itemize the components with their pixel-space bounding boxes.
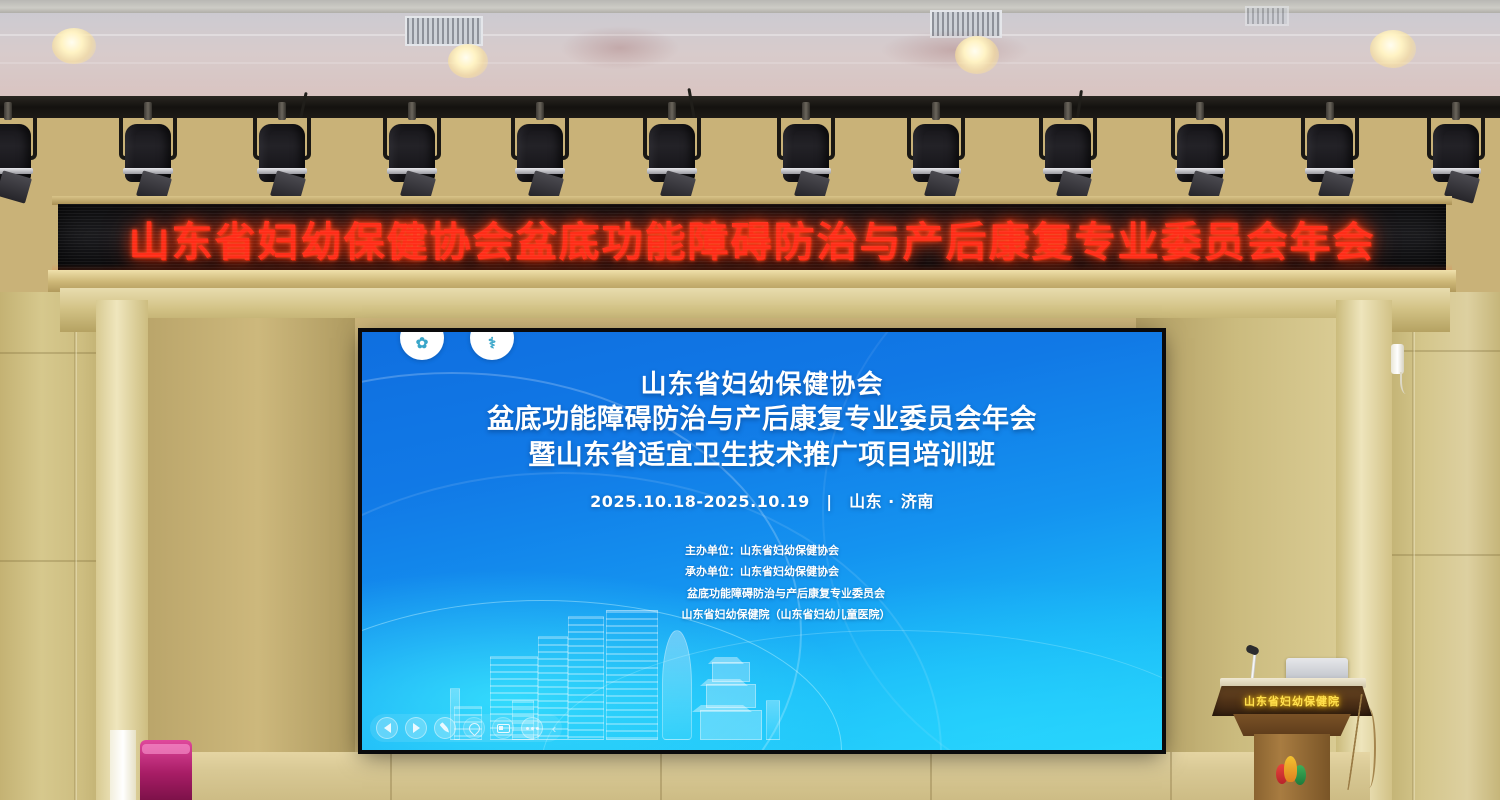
screen-button[interactable] (492, 717, 514, 739)
podium-cable (1362, 708, 1376, 788)
podium-sign-text: 山东省妇幼保健院 (1244, 693, 1340, 709)
stage-recess-left (140, 318, 355, 800)
screen-icon (497, 724, 510, 733)
organizer-value: 山东省妇幼保健协会 (740, 544, 839, 557)
organizer-value: 山东省妇幼保健协会 (740, 565, 839, 578)
slide-title-line-3: 暨山东省适宜卫生技术推广项目培训班 (362, 438, 1162, 474)
lighting-truss (0, 96, 1500, 118)
slide-date-location: 2025.10.18-2025.10.19 | 山东 · 济南 (362, 488, 1162, 512)
organizer-row: 盆底功能障碍防治与产后康复专业委员会 (362, 583, 1162, 604)
ceiling-seam (0, 34, 1500, 36)
organizer-row: 承办单位：山东省妇幼保健协会 (362, 561, 1162, 582)
next-slide-button[interactable] (405, 717, 427, 739)
conference-hall-photo: 山东省妇幼保健协会盆底功能障碍防治与产后康复专业委员会年会 ✿ ⚕ (0, 0, 1500, 800)
triangle-left-icon (384, 723, 391, 733)
wall-light-fixture (1391, 344, 1404, 374)
fixture-wire (1400, 372, 1410, 394)
stage-base (140, 752, 1370, 800)
banner-panel: 山东省妇幼保健协会盆底功能障碍防治与产后康复专业委员会年会 (58, 204, 1446, 272)
podium-mid (1228, 714, 1356, 736)
pointer-icon (466, 720, 482, 736)
slide-title-line-2: 盆底功能障碍防治与产后康复专业委员会年会 (362, 402, 1162, 438)
organizer-label: 承办单位： (685, 565, 740, 578)
previous-slide-button[interactable] (376, 717, 398, 739)
air-vent-icon (1245, 6, 1289, 26)
floral-decoration (140, 740, 192, 800)
ceiling-downlight (52, 28, 96, 64)
podium-sign: 山东省妇幼保健院 (1212, 686, 1372, 716)
more-options-button[interactable] (521, 717, 543, 739)
organizer-label: 主办单位： (685, 544, 740, 557)
pen-icon (437, 720, 454, 737)
organizer-value: 盆底功能障碍防治与产后康复专业委员会 (687, 587, 885, 600)
podium: 山东省妇幼保健院 (1212, 648, 1372, 800)
presentation-toolbar[interactable]: ‹ (370, 714, 562, 742)
ceiling-downlight (448, 44, 488, 78)
ceiling-shadow (560, 26, 680, 70)
presentation-screen[interactable]: ✿ ⚕ 山东省妇幼保健协会 盆底功能障碍防治与产后康复专业委员会年会 暨山东省适… (362, 332, 1162, 750)
ceiling (0, 0, 1500, 100)
air-vent-icon (405, 16, 483, 46)
ceiling-downlight (1370, 30, 1416, 68)
wall-column (110, 730, 136, 800)
triangle-right-icon (413, 723, 420, 733)
hospital-emblem-icon (1274, 756, 1310, 786)
ceiling-seam (0, 62, 1500, 64)
banner-text: 山东省妇幼保健协会盆底功能障碍防治与产后康复专业委员会年会 (129, 208, 1376, 268)
ceiling-downlight (955, 36, 999, 74)
dots-icon (526, 727, 539, 730)
collapse-toolbar-button[interactable]: ‹ (550, 721, 556, 736)
led-banner: 山东省妇幼保健协会盆底功能障碍防治与产后康复专业委员会年会 (52, 196, 1452, 292)
slide-title-line-1: 山东省妇幼保健协会 (362, 368, 1162, 402)
stage-frame-left (96, 300, 148, 800)
pen-button[interactable] (434, 717, 456, 739)
slide-title-block: 山东省妇幼保健协会 盆底功能障碍防治与产后康复专业委员会年会 暨山东省适宜卫生技… (362, 368, 1162, 512)
organizer-row: 主办单位：山东省妇幼保健协会 (362, 540, 1162, 561)
pointer-button[interactable] (463, 717, 485, 739)
